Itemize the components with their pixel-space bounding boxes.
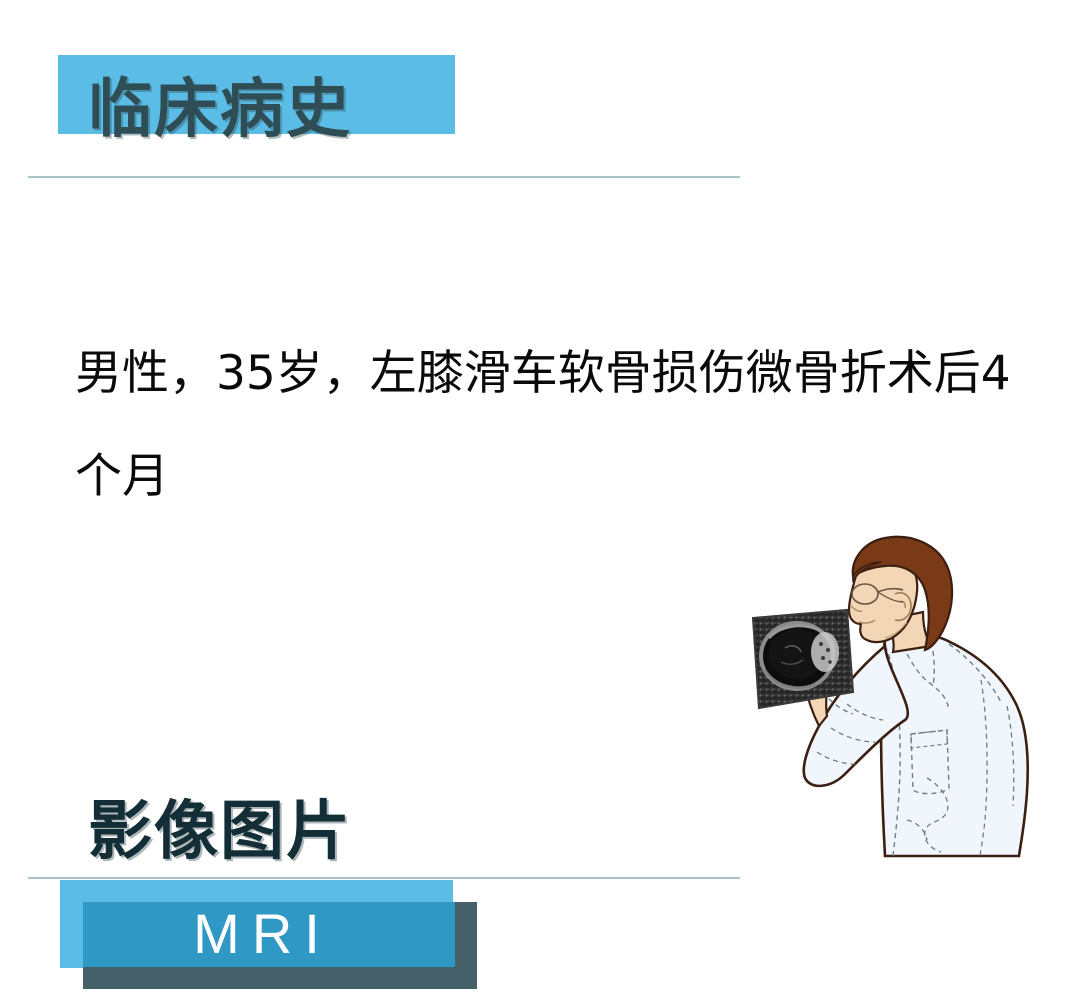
header-divider	[28, 176, 740, 178]
clinical-history-text: 男性，35岁，左膝滑车软骨损伤微骨折术后4个月	[75, 322, 1015, 528]
section-title-imaging: 影像图片	[88, 800, 352, 864]
footer-divider	[28, 877, 740, 879]
page-title: 临床病史	[88, 78, 352, 142]
doctor-illustration	[735, 520, 1080, 950]
modality-label-mri: MRI	[60, 900, 453, 968]
doctor-head	[849, 537, 952, 652]
slide-canvas: 临床病史 男性，35岁，左膝滑车软骨损伤微骨折术后4个月	[0, 0, 1080, 1000]
doctor-coat	[881, 634, 1028, 856]
